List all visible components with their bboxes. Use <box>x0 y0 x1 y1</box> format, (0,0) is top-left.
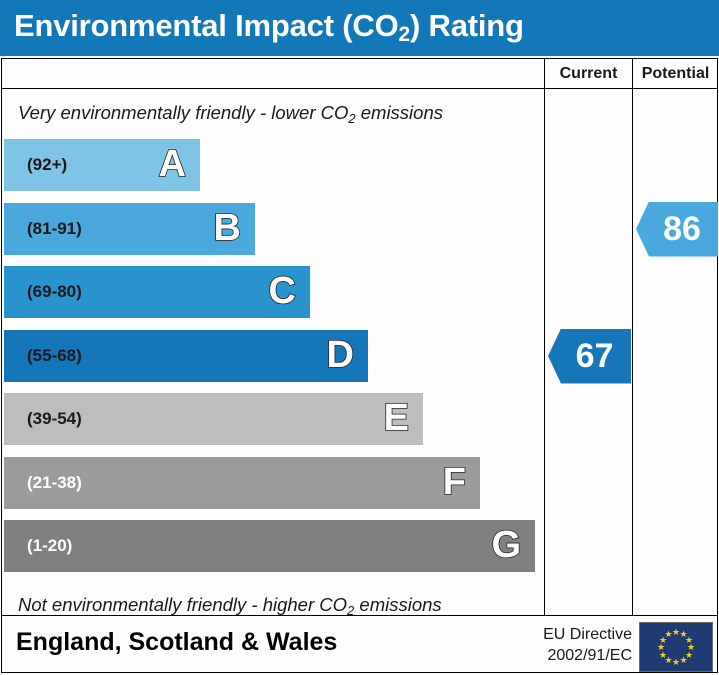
eu-star-icon: ★ <box>672 658 680 666</box>
band-row-g: (1-20) G <box>4 520 535 572</box>
band-row-b: (81-91) B <box>4 203 255 255</box>
column-header-potential: Potential <box>632 59 718 88</box>
eu-star-icon: ★ <box>680 656 688 664</box>
caption-top: Very environmentally friendly - lower CO… <box>18 102 538 124</box>
band-letter-g: G <box>491 520 521 572</box>
eu-star-icon: ★ <box>665 630 673 638</box>
band-row-a: (92+) A <box>4 139 200 191</box>
band-row-f: (21-38) F <box>4 457 480 509</box>
band-letter-d: D <box>327 330 354 382</box>
potential-rating-badge: 86 <box>636 202 718 257</box>
eu-directive-line2: 2002/91/EC <box>522 645 632 666</box>
column-header-current: Current <box>544 59 632 88</box>
footer-region-label: England, Scotland & Wales <box>16 628 337 657</box>
title-subscript: 2 <box>399 23 410 46</box>
band-range-f: (21-38) <box>27 457 82 509</box>
column-divider-current <box>544 89 545 615</box>
footer-bar: England, Scotland & Wales EU Directive 2… <box>1 616 718 673</box>
current-rating-badge: 67 <box>548 329 631 384</box>
band-range-d: (55-68) <box>27 330 82 382</box>
title-text-before: Environmental Impact (CO <box>14 8 399 43</box>
band-range-g: (1-20) <box>27 520 72 572</box>
caption-top-before: Very environmentally friendly - lower CO <box>18 102 348 123</box>
title-text-after: ) Rating <box>410 8 524 43</box>
eu-flag-icon: ★★★★★★★★★★★★ <box>639 622 713 672</box>
column-divider-potential <box>632 89 633 615</box>
bands-panel: Very environmentally friendly - lower CO… <box>2 89 544 615</box>
band-row-e: (39-54) E <box>4 393 423 445</box>
caption-top-after: emissions <box>356 102 443 123</box>
band-letter-e: E <box>384 393 409 445</box>
caption-bottom: Not environmentally friendly - higher CO… <box>18 594 538 616</box>
band-range-b: (81-91) <box>27 203 82 255</box>
band-row-d: (55-68) D <box>4 330 368 382</box>
epc-certificate: Environmental Impact (CO2) Rating Curren… <box>0 0 719 675</box>
band-letter-a: A <box>159 139 186 191</box>
eu-directive-line1: EU Directive <box>522 624 632 645</box>
band-row-c: (69-80) C <box>4 266 310 318</box>
band-letter-b: B <box>214 203 241 255</box>
band-letter-c: C <box>269 266 296 318</box>
band-range-a: (92+) <box>27 139 67 191</box>
eu-directive-text: EU Directive 2002/91/EC <box>522 624 632 666</box>
caption-bottom-before: Not environmentally friendly - higher CO <box>18 594 347 615</box>
band-range-e: (39-54) <box>27 393 82 445</box>
band-range-c: (69-80) <box>27 266 82 318</box>
title-bar: Environmental Impact (CO2) Rating <box>0 0 719 56</box>
page-title: Environmental Impact (CO2) Rating <box>14 8 524 44</box>
caption-top-subscript: 2 <box>348 111 355 126</box>
column-header-row: Current Potential <box>2 59 717 89</box>
band-letter-f: F <box>443 457 466 509</box>
caption-bottom-after: emissions <box>354 594 441 615</box>
rating-table: Current Potential Very environmentally f… <box>1 58 718 616</box>
